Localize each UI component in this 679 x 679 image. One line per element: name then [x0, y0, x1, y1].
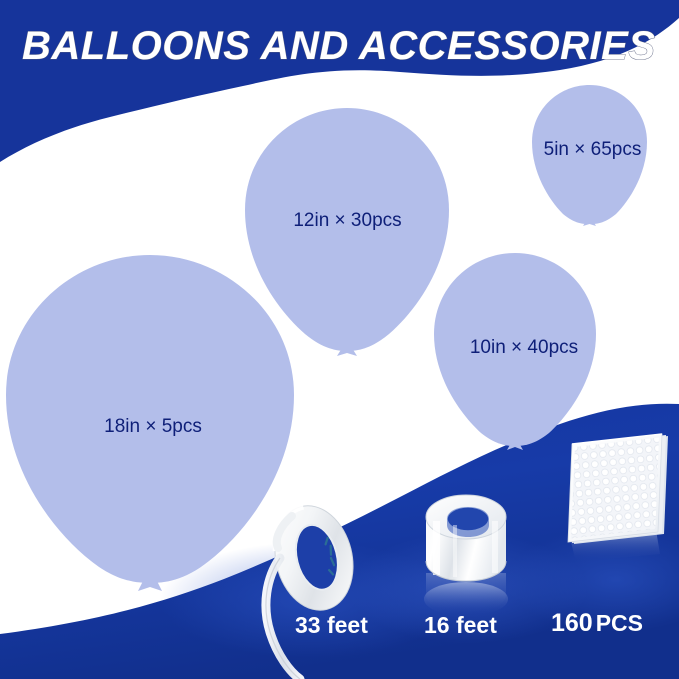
balloon-12in: 12in × 30pcs	[243, 106, 451, 356]
accessory-tape-roll	[408, 487, 524, 617]
label-tape-length: 16 feet	[424, 614, 497, 637]
balloon-10in: 10in × 40pcs	[432, 251, 598, 450]
accessory-glue-dot-sheets	[556, 430, 674, 565]
label-glue-dot-unit: PCS	[596, 610, 643, 636]
balloon-shape-icon	[432, 251, 598, 450]
tape-roll-icon	[408, 487, 524, 617]
accessory-ribbon-roll	[252, 486, 382, 679]
label-glue-dot-number: 160	[551, 609, 593, 637]
label-glue-dot-count: 160PCS	[551, 612, 643, 635]
label-ribbon-length: 33 feet	[295, 614, 368, 637]
balloon-shape-icon	[243, 106, 451, 356]
balloon-5in: 5in × 65pcs	[530, 83, 649, 226]
product-poster: BALLOONS AND ACCESSORIES 18in × 5pcs 12i…	[0, 0, 679, 679]
glue-dot-sheet-icon	[556, 430, 674, 565]
poster-title: BALLOONS AND ACCESSORIES	[22, 22, 679, 70]
balloon-shape-icon	[530, 83, 649, 226]
ribbon-roll-icon	[252, 486, 382, 679]
